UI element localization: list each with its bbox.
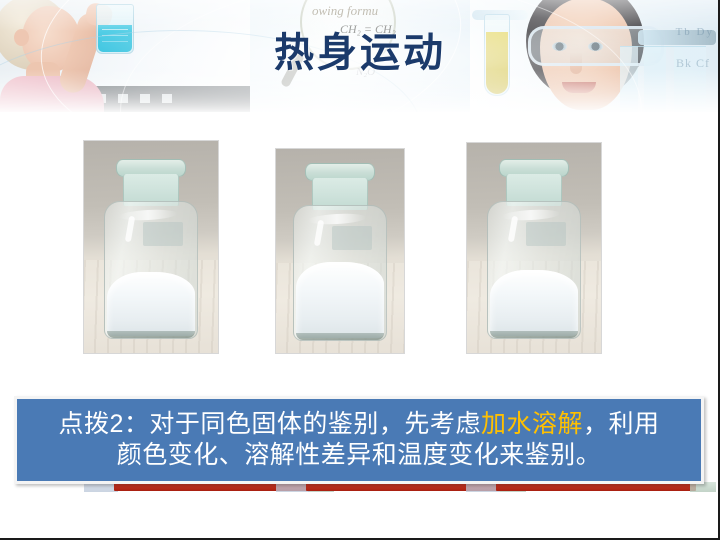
white-powder <box>296 262 384 338</box>
glass-highlight-strip <box>314 220 324 247</box>
bottle-label-patch <box>332 226 372 250</box>
callout-box: 点拨2：对于同色固体的鉴别，先考虑加水溶解，利用 颜色变化、溶解性差异和温度变化… <box>14 396 704 484</box>
reagent-bottle <box>294 163 386 339</box>
presentation-slide: Tb Dy Bk Cf owing formu CH₂ = CH₂ N₂O 热身… <box>0 0 720 540</box>
white-powder <box>490 270 578 336</box>
slide-header-banner: Tb Dy Bk Cf owing formu CH₂ = CH₂ N₂O 热身… <box>0 0 720 112</box>
glass-highlight-strip <box>125 216 135 243</box>
reagent-bottle-photo-2 <box>275 148 405 354</box>
bottle-base <box>490 331 578 338</box>
glass-highlight-strip <box>508 216 518 243</box>
bottle-base <box>107 331 195 338</box>
callout-text: 点拨2：对于同色固体的鉴别，先考虑加水溶解，利用 颜色变化、溶解性差异和温度变化… <box>51 409 668 472</box>
reagent-bottle <box>488 159 580 337</box>
callout-highlight: 加水溶解 <box>481 410 583 438</box>
reagent-bottle-photo-3 <box>466 142 602 354</box>
decoration-bar <box>496 483 696 491</box>
callout-line1-prefix: 点拨2：对于同色固体的鉴别，先考虑 <box>59 410 481 438</box>
bottle-body <box>293 205 387 341</box>
page-title: 热身运动 <box>0 20 720 78</box>
bottle-base <box>296 333 384 340</box>
white-powder <box>107 272 195 336</box>
banner-formula-text-a: owing formu <box>312 3 378 19</box>
callout-line1-suffix: ，利用 <box>583 410 660 438</box>
bottle-label-patch <box>526 222 566 246</box>
reagent-bottle-photo-1 <box>83 140 219 354</box>
bottle-body <box>487 201 581 339</box>
bottle-label-patch <box>143 222 183 246</box>
bottle-body <box>104 201 198 339</box>
callout-line2: 颜色变化、溶解性差异和温度变化来鉴别。 <box>117 441 602 469</box>
reagent-bottle <box>105 159 197 337</box>
